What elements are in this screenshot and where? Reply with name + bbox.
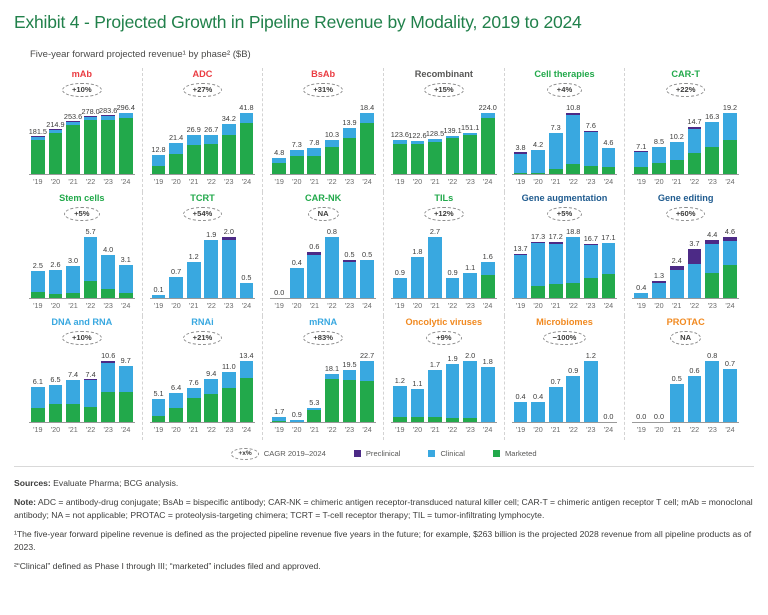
x-tick-label: '21 [187,301,201,310]
bar-column[interactable]: 2.7 [428,223,442,298]
panel-title: PROTAC [629,316,742,329]
bar-column[interactable]: 10.2 [670,99,684,174]
bar-column[interactable]: 3.1 [119,223,133,298]
legend-label-marketed: Marketed [505,449,537,458]
bar-column[interactable]: 0.9 [446,223,460,298]
bar-column[interactable]: 19.5 [343,347,357,422]
bar-column[interactable]: 5.1 [152,347,166,422]
stacked-bar [101,255,115,298]
bar-segment-marketed [169,154,183,174]
stacked-bar [549,387,563,422]
bar-column[interactable]: 0.8 [705,347,719,422]
bar-column[interactable]: 123.6 [393,99,407,174]
stacked-bar [272,158,286,174]
cagr-badge: +83% [303,331,343,346]
bar-column[interactable]: 0.4 [514,347,528,422]
bar-column[interactable]: 0.4 [531,347,545,422]
stacked-bar [393,278,407,298]
panel-tcrt: TCRT+54%0.10.71.21.92.00.5'19'20'21'22'2… [143,192,264,316]
bar-segment-marketed [307,410,321,422]
bar-segment-clinical [688,264,702,298]
x-tick-label: '20 [49,425,63,434]
bar-value-label: 13.7 [513,244,527,253]
x-tick-label: '20 [49,177,63,186]
plot-area: 123.6122.6128.5139.1151.1224.0 [391,99,497,175]
cagr-badge: +27% [183,83,223,98]
bar-value-label: 0.9 [448,268,458,277]
bar-column[interactable]: 1.9 [204,223,218,298]
bar-segment-clinical [602,243,616,274]
bar-column[interactable]: 18.1 [325,347,339,422]
x-tick-label: '22 [84,425,98,434]
bar-segment-clinical [290,268,304,298]
plot-area: 0.00.00.50.60.80.7 [632,347,739,423]
bar-segment-clinical [411,257,425,298]
bar-column[interactable]: 0.5 [240,223,254,298]
x-tick-label: '24 [723,301,737,310]
bar-group: 5.16.47.69.411.013.4 [150,347,256,422]
stacked-bar [343,128,357,174]
stacked-bar [222,237,236,298]
bar-column[interactable]: 0.1 [152,223,166,298]
x-axis: '19'20'21'22'23'24 [150,175,256,186]
stacked-bar [360,260,374,298]
bar-value-label: 10.8 [566,103,580,112]
bar-column[interactable]: 5.3 [307,347,321,422]
bar-column[interactable]: 4.6 [602,99,616,174]
bar-column[interactable]: 7.4 [84,347,98,422]
bar-column[interactable]: 0.5 [360,223,374,298]
stacked-bar [169,393,183,422]
stacked-bar [290,268,304,298]
bar-value-label: 0.5 [344,250,354,259]
cagr-badge: +5% [547,207,582,222]
bar-segment-clinical [66,266,80,293]
bar-column[interactable]: 8.5 [652,99,666,174]
bar-column[interactable]: 10.6 [101,347,115,422]
x-tick-label: '24 [723,177,737,186]
bar-group: 0.91.82.70.91.11.6 [391,223,497,298]
bar-value-label: 5.3 [309,398,319,407]
bar-segment-clinical [360,361,374,381]
plot-area: 5.16.47.69.411.013.4 [150,347,256,423]
bar-value-label: 8.5 [654,137,664,146]
x-tick-label: '23 [705,301,719,310]
stacked-bar [463,133,477,174]
bar-column[interactable]: 4.0 [101,223,115,298]
bar-column[interactable]: 1.6 [481,223,495,298]
stacked-bar [411,389,425,422]
x-tick-label: '24 [119,425,133,434]
bar-value-label: 1.3 [654,271,664,280]
bar-column[interactable]: 0.6 [688,347,702,422]
bar-column[interactable]: 0.7 [723,347,737,422]
bar-column[interactable]: 7.8 [307,99,321,174]
bar-segment-marketed [360,123,374,174]
bar-column[interactable]: 10.8 [566,99,580,174]
bar-column[interactable]: 0.7 [169,223,183,298]
bar-column[interactable]: 13.7 [514,223,528,298]
bar-segment-clinical [531,150,545,173]
legend-item-preclinical: Preclinical [354,449,401,458]
bar-column[interactable]: 1.1 [463,223,477,298]
bar-column[interactable]: 34.2 [222,99,236,174]
bar-value-label: 128.5 [426,129,444,138]
stacked-bar [481,262,495,298]
cagr-badge: +10% [62,83,102,98]
bar-column[interactable]: 283.6 [101,99,115,174]
cagr-badge: +22% [666,83,706,98]
bar-segment-marketed [152,166,166,174]
plot-area: 6.16.57.47.410.69.7 [29,347,135,423]
stacked-bar [152,399,166,422]
bar-column[interactable]: 6.1 [31,347,45,422]
x-tick-label: '20 [531,177,545,186]
bar-value-label: 6.5 [50,375,60,384]
bar-column[interactable]: 1.8 [481,347,495,422]
cagr-badge-wrap: +83% [267,329,379,347]
bar-column[interactable]: 2.5 [31,223,45,298]
panel-title: TILs [388,192,500,205]
bar-column[interactable]: 17.2 [549,223,563,298]
stacked-bar [49,129,63,174]
bar-column[interactable]: 4.2 [531,99,545,174]
stacked-bar [549,242,563,298]
panel-protac: PROTACNA0.00.00.50.60.80.7'19'20'21'22'2… [625,316,746,440]
bar-column[interactable]: 224.0 [481,99,495,174]
bar-column[interactable]: 12.8 [152,99,166,174]
bar-column[interactable]: 296.4 [119,99,133,174]
bar-value-label: 4.0 [103,245,113,254]
bar-segment-clinical [360,260,374,298]
bar-column[interactable]: 11.0 [222,347,236,422]
bar-value-label: 122.6 [408,131,426,140]
bar-column[interactable]: 122.6 [411,99,425,174]
bar-column[interactable]: 9.7 [119,347,133,422]
bar-column[interactable]: 1.2 [187,223,201,298]
x-tick-label: '24 [360,425,374,434]
plot-area: 1.21.11.71.92.01.8 [391,347,497,423]
bar-segment-marketed [463,418,477,422]
x-tick-label: '21 [66,177,80,186]
bar-column[interactable]: 18.4 [360,99,374,174]
bar-value-label: 0.9 [292,410,302,419]
cagr-badge-wrap: +27% [147,81,259,99]
bar-segment-marketed [101,120,115,174]
bar-column[interactable]: 18.8 [566,223,580,298]
cagr-badge-wrap: +5% [26,205,138,223]
bar-segment-marketed [360,381,374,422]
x-tick-label: '21 [187,177,201,186]
bar-segment-clinical [101,255,115,289]
bar-column[interactable]: 13.9 [343,99,357,174]
bar-column[interactable]: 128.5 [428,99,442,174]
bar-segment-clinical [688,376,702,422]
x-tick-label: '20 [411,301,425,310]
bar-segment-clinical [325,140,339,147]
panel-title: DNA and RNA [26,316,138,329]
plot-area: 7.18.510.214.716.319.2 [632,99,739,175]
bar-group: 123.6122.6128.5139.1151.1224.0 [391,99,497,174]
bar-segment-marketed [152,416,166,422]
bar-value-label: 26.9 [187,125,201,134]
bar-column[interactable]: 0.9 [290,347,304,422]
legend-cagr: +x% CAGR 2019–2024 [231,448,325,460]
bar-column[interactable]: 3.0 [66,223,80,298]
bar-column[interactable]: 5.7 [84,223,98,298]
x-axis: '19'20'21'22'23'24 [391,175,497,186]
stacked-bar [49,270,63,298]
bar-value-label: 9.7 [121,356,131,365]
bar-group: 7.18.510.214.716.319.2 [632,99,739,174]
bar-segment-clinical [84,380,98,407]
bar-value-label: 22.7 [360,351,374,360]
bar-segment-clinical [325,237,339,298]
bar-column[interactable]: 41.8 [240,99,254,174]
bar-value-label: 0.9 [568,366,578,375]
bar-column[interactable]: 22.7 [360,347,374,422]
stacked-bar [566,113,580,174]
cagr-badge-wrap: +4% [509,81,621,99]
bar-column[interactable]: 2.4 [670,223,684,298]
plot-area: 12.821.426.926.734.241.8 [150,99,256,175]
bar-column[interactable]: 16.3 [705,99,719,174]
bar-column[interactable]: 9.4 [204,347,218,422]
note-text: ADC = antibody-drug conjugate; BsAb = bi… [14,497,753,519]
bar-column[interactable]: 14.7 [688,99,702,174]
bar-column[interactable]: 1.8 [411,223,425,298]
bar-column[interactable]: 0.4 [290,223,304,298]
bar-column[interactable]: 2.6 [49,223,63,298]
x-axis: '19'20'21'22'23'24 [29,299,135,310]
bar-column[interactable]: 6.4 [169,347,183,422]
x-tick-label: '22 [446,301,460,310]
bar-column[interactable]: 1.1 [411,347,425,422]
bar-column[interactable]: 1.2 [584,347,598,422]
bar-group: 1.21.11.71.92.01.8 [391,347,497,422]
stacked-bar [307,252,321,298]
stacked-bar [325,374,339,422]
bar-column[interactable]: 7.3 [290,99,304,174]
legend-label-clinical: Clinical [440,449,464,458]
bar-column[interactable]: 0.6 [307,223,321,298]
x-axis: '19'20'21'22'23'24 [391,423,497,434]
panel-car-t: CAR-T+22%7.18.510.214.716.319.2'19'20'21… [625,68,746,192]
bar-group: 3.84.27.310.87.64.6 [512,99,618,174]
bar-value-label: 139.1 [443,126,461,135]
stacked-bar [670,266,684,298]
panel-title: mAb [26,68,138,81]
bar-column[interactable]: 3.8 [514,99,528,174]
bar-segment-clinical [66,380,80,405]
bar-column[interactable]: 7.3 [549,99,563,174]
stacked-bar [204,379,218,422]
stacked-bar [169,277,183,298]
bar-value-label: 151.1 [461,123,479,132]
stacked-bar [602,243,616,298]
x-tick-label: '22 [566,177,580,186]
bar-column[interactable]: 16.7 [584,223,598,298]
bar-group: 12.821.426.926.734.241.8 [150,99,256,174]
bar-column[interactable]: 1.9 [446,347,460,422]
bar-column[interactable]: 0.7 [549,347,563,422]
bar-column[interactable]: 0.9 [393,223,407,298]
bar-segment-marketed [463,135,477,174]
stacked-bar [84,379,98,422]
bar-value-label: 17.3 [531,232,545,241]
bar-segment-clinical [446,278,460,298]
legend-cagr-label: CAGR 2019–2024 [264,449,326,458]
bar-column[interactable]: 0.0 [634,347,648,422]
x-tick-label: '23 [705,177,719,186]
bar-value-label: 2.4 [672,256,682,265]
x-tick-label: '19 [514,425,528,434]
bar-column[interactable]: 26.7 [204,99,218,174]
stacked-bar [187,388,201,422]
bar-segment-clinical [584,361,598,422]
x-axis: '19'20'21'22'23'24 [632,299,739,310]
bar-value-label: 0.7 [725,359,735,368]
bar-column[interactable]: 151.1 [463,99,477,174]
bar-segment-clinical [514,255,528,298]
stacked-bar [723,237,737,298]
bar-column[interactable]: 0.4 [634,223,648,298]
bar-value-label: 1.9 [206,230,216,239]
bar-column[interactable]: 19.2 [723,99,737,174]
stacked-bar [514,254,528,298]
bar-column[interactable]: 7.4 [66,347,80,422]
cagr-badge: +12% [424,207,464,222]
stacked-bar [222,372,236,422]
legend-label-preclinical: Preclinical [366,449,401,458]
bar-column[interactable]: 3.7 [688,223,702,298]
bar-column[interactable]: 7.6 [187,347,201,422]
bar-segment-marketed [549,169,563,174]
stacked-bar [393,386,407,422]
bar-column[interactable]: 278.0 [84,99,98,174]
bar-segment-marketed [531,286,545,298]
stacked-bar [652,147,666,174]
stacked-bar [723,113,737,174]
x-tick-label: '20 [411,425,425,434]
bar-column[interactable]: 0.0 [602,347,616,422]
bar-column[interactable]: 0.5 [343,223,357,298]
panel-oncolytic-viruses: Oncolytic viruses+9%1.21.11.71.92.01.8'1… [384,316,505,440]
panel-stem-cells: Stem cells+5%2.52.63.05.74.03.1'19'20'21… [22,192,143,316]
x-tick-label: '22 [446,425,460,434]
bar-value-label: 0.8 [327,227,337,236]
x-tick-label: '23 [584,177,598,186]
bar-column[interactable]: 1.7 [272,347,286,422]
stacked-bar [705,361,719,422]
bar-column[interactable]: 1.7 [428,347,442,422]
bar-value-label: 2.7 [430,227,440,236]
bar-column[interactable]: 13.4 [240,347,254,422]
stacked-bar [688,376,702,422]
bar-column[interactable]: 17.1 [602,223,616,298]
bar-group: 6.16.57.47.410.69.7 [29,347,135,422]
bar-column[interactable]: 1.2 [393,347,407,422]
cagr-badge-wrap: +5% [509,205,621,223]
x-axis: '19'20'21'22'23'24 [150,299,256,310]
bar-segment-clinical [566,115,580,164]
bar-column[interactable]: 10.3 [325,99,339,174]
bar-column[interactable]: 4.8 [272,99,286,174]
bar-value-label: 1.1 [412,379,422,388]
stacked-bar [652,281,666,298]
bar-value-label: 6.1 [33,377,43,386]
bar-segment-marketed [101,392,115,422]
bar-column[interactable]: 0.0 [652,347,666,422]
bar-value-label: 19.2 [723,103,737,112]
x-tick-label: '20 [652,301,666,310]
bar-column[interactable]: 214.9 [49,99,63,174]
bar-column[interactable]: 4.4 [705,223,719,298]
bar-column[interactable]: 253.6 [66,99,80,174]
bar-value-label: 1.2 [586,351,596,360]
bar-segment-clinical [393,386,407,418]
bar-column[interactable]: 139.1 [446,99,460,174]
bar-segment-marketed [204,144,218,174]
bar-group: 1.70.95.318.119.522.7 [270,347,376,422]
bar-column[interactable]: 2.0 [222,223,236,298]
stacked-bar [240,361,254,422]
panel-title: Microbiomes [509,316,621,329]
bar-column[interactable]: 2.0 [463,347,477,422]
cagr-badge: +21% [183,331,223,346]
bar-value-label: 10.2 [670,132,684,141]
x-tick-label: '20 [652,425,666,434]
stacked-bar [119,366,133,422]
bar-column[interactable]: 6.5 [49,347,63,422]
bar-column[interactable]: 26.9 [187,99,201,174]
bar-column[interactable]: 181.5 [31,99,45,174]
bar-column[interactable]: 0.5 [670,347,684,422]
stacked-bar [428,237,442,298]
stacked-bar [360,113,374,174]
bar-column[interactable]: 1.3 [652,223,666,298]
bar-segment-clinical [428,237,442,298]
bar-column[interactable]: 7.1 [634,99,648,174]
bar-column[interactable]: 0.8 [325,223,339,298]
bar-segment-marketed [428,142,442,174]
bar-column[interactable]: 0.9 [566,347,580,422]
panel-tils: TILs+12%0.91.82.70.91.11.6'19'20'21'22'2… [384,192,505,316]
bar-column[interactable]: 0.0 [272,223,286,298]
x-tick-label: '20 [411,177,425,186]
stacked-bar [446,136,460,174]
stacked-bar [723,369,737,422]
cagr-badge-wrap: NA [629,329,742,347]
stacked-bar [204,240,218,298]
bar-column[interactable]: 7.6 [584,99,598,174]
bar-segment-clinical [514,154,528,173]
panel-mab: mAb+10%181.5214.9253.6278.0283.6296.4'19… [22,68,143,192]
bar-value-label: 0.0 [636,412,646,421]
x-tick-label: '22 [325,177,339,186]
bar-column[interactable]: 4.6 [723,223,737,298]
bar-segment-clinical [566,376,580,422]
bar-column[interactable]: 17.3 [531,223,545,298]
bar-value-label: 0.5 [241,273,251,282]
x-tick-label: '19 [514,177,528,186]
cagr-badge: NA [308,207,339,222]
bar-segment-clinical [514,402,528,422]
x-tick-label: '21 [307,177,321,186]
bar-column[interactable]: 21.4 [169,99,183,174]
bar-segment-clinical [549,133,563,169]
bar-value-label: 11.0 [222,362,236,371]
